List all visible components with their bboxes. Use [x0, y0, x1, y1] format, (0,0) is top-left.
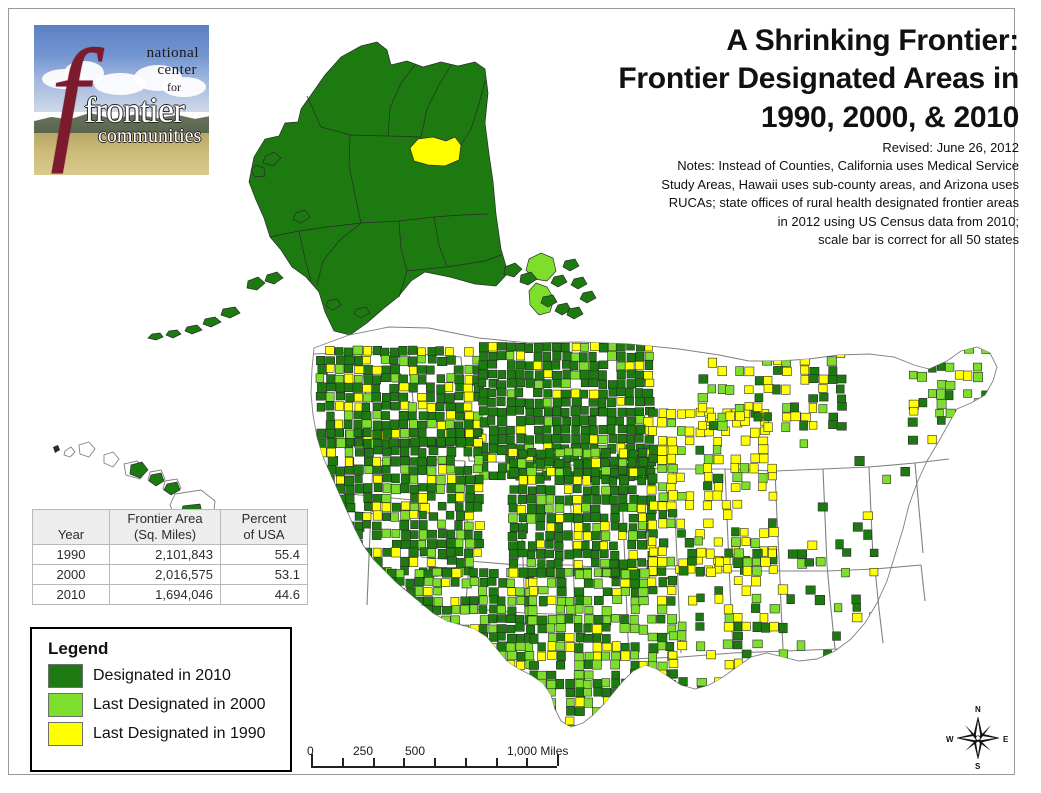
county-cell [668, 454, 676, 464]
county-cell [563, 352, 572, 362]
county-cell [640, 569, 649, 578]
county-cell [630, 615, 638, 624]
county-cell [388, 625, 397, 633]
county-cell [354, 465, 364, 475]
county-cell [592, 486, 600, 495]
county-cell [909, 354, 917, 362]
county-cell [480, 569, 489, 577]
legend-swatch-2000 [48, 693, 83, 717]
county-cell [574, 549, 582, 557]
county-cell [566, 679, 575, 688]
county-cell [593, 642, 601, 652]
county-cell [547, 717, 555, 725]
county-cell [627, 417, 635, 425]
county-cell [381, 412, 389, 420]
county-cell [525, 436, 534, 445]
county-cell [365, 448, 374, 456]
county-cell [445, 394, 455, 404]
county-cell [364, 365, 373, 374]
county-cell [519, 476, 527, 485]
county-cell [800, 421, 808, 430]
county-cell [526, 625, 534, 634]
county-cell [478, 379, 486, 387]
title-line-1: A Shrinking Frontier: [549, 22, 1019, 60]
county-cell [818, 503, 827, 511]
county-cell [870, 695, 879, 703]
county-cell [553, 426, 561, 435]
county-cell [392, 529, 400, 537]
county-cell [346, 485, 354, 494]
county-cell [328, 503, 336, 511]
county-cell [552, 343, 561, 351]
county-cell [546, 540, 554, 548]
county-cell [731, 455, 741, 464]
county-cell [418, 375, 426, 385]
county-cell [698, 422, 706, 430]
county-cell [369, 662, 378, 672]
county-cell [369, 643, 377, 652]
county-cell [635, 408, 644, 416]
county-cell [528, 476, 536, 485]
county-cell [611, 652, 620, 661]
county-cell [589, 399, 598, 407]
county-cell [590, 362, 599, 371]
compass-label-north: N [975, 705, 981, 714]
county-cell [639, 513, 647, 522]
county-cell [619, 459, 627, 467]
county-cell [707, 568, 716, 577]
county-cell [536, 522, 545, 531]
county-cell [829, 421, 838, 429]
county-cell [396, 570, 404, 579]
county-cell [761, 623, 770, 632]
county-cell [328, 558, 336, 567]
county-cell [433, 579, 441, 587]
county-cell [497, 625, 506, 634]
county-cell [668, 615, 677, 624]
county-cell [338, 521, 347, 531]
county-cell [799, 339, 808, 348]
county-cell [815, 595, 825, 605]
frontier-area-table: Year Frontier Area (Sq. Miles) Percent o… [32, 509, 308, 605]
county-cell [591, 532, 600, 540]
county-cell [658, 715, 666, 724]
county-cell [370, 634, 379, 642]
county-cell [658, 642, 666, 650]
county-cell [379, 587, 387, 596]
county-cell [354, 375, 362, 384]
county-cell [506, 352, 514, 360]
county-cell [406, 632, 414, 640]
county-cell [474, 439, 483, 447]
county-cell [536, 533, 544, 541]
county-cell [772, 349, 780, 357]
scale-bar: 0 250 500 1,000 Miles [307, 740, 567, 776]
county-cell [580, 370, 589, 379]
county-cell [759, 482, 767, 491]
county-cell [602, 623, 610, 631]
county-cell [567, 605, 576, 614]
county-cell [688, 596, 697, 605]
county-cell [515, 370, 524, 379]
county-cell [685, 427, 694, 436]
county-cell [446, 511, 454, 519]
county-cell [715, 558, 723, 566]
table-row: 1990 2,101,843 55.4 [33, 545, 308, 565]
county-cell [917, 372, 926, 381]
county-cell [387, 605, 396, 613]
county-cell [752, 558, 760, 566]
county-cell [565, 614, 573, 623]
county-cell [963, 371, 972, 380]
county-cell [456, 383, 464, 391]
county-cell [479, 596, 487, 604]
county-cell [723, 640, 732, 649]
county-cell [447, 374, 455, 382]
county-cell [416, 642, 425, 651]
county-cell [438, 456, 446, 464]
county-cell [714, 483, 722, 492]
county-cell [589, 352, 597, 361]
county-cell [668, 464, 678, 472]
county-cell [740, 529, 748, 537]
county-cell [410, 485, 419, 493]
county-cell [688, 557, 697, 565]
county-cell [509, 550, 518, 559]
county-cell [659, 699, 667, 708]
county-cell [535, 399, 544, 409]
county-cell [447, 530, 455, 539]
county-cell [570, 361, 578, 370]
county-cell [797, 641, 805, 651]
county-cell [635, 389, 643, 398]
county-cell [883, 475, 891, 484]
county-cell [713, 491, 722, 500]
county-cell [345, 476, 354, 485]
county-cell [852, 595, 861, 604]
county-cell [645, 436, 654, 444]
county-cell [368, 586, 376, 595]
county-cell [599, 343, 608, 352]
county-cell [318, 447, 327, 457]
county-cell [648, 699, 657, 707]
county-cell [737, 340, 746, 350]
county-cell [764, 423, 772, 432]
county-cell [445, 348, 453, 356]
county-cell [557, 587, 566, 596]
county-cell [553, 407, 561, 416]
county-cell [733, 641, 742, 649]
county-cell [669, 660, 678, 668]
county-cell [828, 376, 837, 384]
county-cell [396, 634, 404, 642]
county-cell [437, 437, 446, 446]
legend-item-1990[interactable]: Last Designated in 1990 [48, 722, 290, 746]
county-cell [445, 383, 453, 392]
scale-tick [403, 758, 405, 766]
county-cell [418, 494, 427, 504]
county-cell [572, 398, 582, 406]
county-cell [553, 351, 562, 360]
county-cell [364, 346, 372, 355]
county-cell [456, 428, 464, 437]
county-cell [466, 476, 475, 484]
county-cell [336, 438, 345, 447]
county-cell [677, 492, 687, 500]
note-line-1: Notes: Instead of Counties, California u… [549, 157, 1019, 176]
county-cell [451, 597, 459, 606]
county-cell [399, 393, 408, 401]
county-cell [760, 529, 769, 538]
county-cell [616, 343, 625, 351]
cell-area: 2,016,575 [110, 565, 221, 585]
county-cell [658, 465, 667, 473]
county-cell [319, 522, 327, 531]
county-cell [436, 347, 444, 355]
cell-year: 1990 [33, 545, 110, 565]
county-cell [658, 568, 666, 576]
county-cell [447, 538, 457, 547]
county-cell [534, 343, 543, 351]
county-cell [470, 569, 478, 577]
county-cell [782, 358, 791, 366]
county-cell [685, 437, 694, 445]
county-cell [668, 474, 677, 483]
scale-axis-line [311, 766, 557, 768]
county-cell [506, 643, 515, 652]
county-cell [888, 585, 897, 594]
county-cell [819, 405, 827, 413]
county-cell [592, 625, 602, 635]
county-cell [584, 569, 592, 578]
county-cell [497, 606, 505, 614]
county-cell [696, 623, 704, 631]
scale-tick [496, 758, 498, 766]
county-cell [538, 616, 547, 625]
county-cell [345, 467, 354, 475]
county-cell [635, 371, 644, 379]
county-cell [400, 357, 408, 366]
county-cell [602, 688, 611, 697]
county-cell [648, 615, 656, 623]
county-cell [418, 430, 426, 439]
county-cell [419, 484, 427, 492]
county-cell [510, 486, 519, 494]
county-cell [543, 398, 551, 407]
county-cell [397, 625, 405, 634]
county-cell [649, 557, 658, 567]
county-cell [768, 677, 777, 685]
county-cell [420, 548, 428, 556]
county-cell [667, 688, 675, 696]
county-cell [725, 686, 735, 695]
county-cell [363, 484, 372, 493]
county-cell [474, 484, 483, 492]
county-cell [464, 348, 473, 357]
county-cell [455, 521, 463, 531]
county-cell [536, 459, 545, 468]
county-cell [310, 513, 319, 521]
logo-text-communities: communities [98, 125, 201, 148]
county-cell [489, 569, 498, 577]
county-cell [388, 642, 397, 651]
county-cell [526, 417, 535, 425]
county-cell [754, 340, 763, 349]
county-cell [508, 532, 517, 540]
county-cell [525, 652, 534, 661]
county-cell [326, 357, 335, 365]
county-cell [489, 426, 498, 436]
county-cell [374, 483, 382, 491]
county-cell [419, 530, 427, 540]
county-cell [753, 549, 763, 557]
county-cell [581, 343, 589, 351]
county-cell [316, 356, 324, 364]
county-cell [734, 549, 744, 558]
county-cell [619, 560, 628, 569]
county-cell [335, 420, 343, 429]
table-row: 2000 2,016,575 53.1 [33, 565, 308, 585]
county-cell [401, 465, 409, 473]
county-cell [768, 549, 776, 557]
scale-tick [465, 758, 467, 766]
county-cell [745, 367, 754, 376]
county-cell [709, 340, 718, 349]
county-cell [362, 412, 371, 420]
county-cell [452, 662, 461, 670]
county-cell [390, 392, 399, 400]
county-cell [336, 356, 345, 364]
county-cell [753, 640, 763, 648]
county-cell [326, 421, 335, 430]
county-cell [475, 475, 483, 483]
county-cell [369, 651, 378, 659]
county-cell [326, 346, 335, 354]
county-cell [583, 549, 592, 557]
county-cell [372, 376, 380, 385]
county-cell [638, 559, 646, 567]
county-cell [612, 578, 620, 586]
county-cell [387, 578, 396, 586]
county-cell [415, 634, 423, 643]
note-line-2: Study Areas, Hawaii uses sub-county area… [549, 176, 1019, 195]
county-cell [837, 375, 846, 383]
county-cell [715, 587, 723, 596]
county-cell [488, 360, 497, 368]
county-cell [516, 624, 525, 632]
county-cell [346, 503, 355, 511]
county-cell [897, 594, 905, 602]
county-cell [355, 549, 364, 558]
county-cell [317, 403, 325, 411]
county-cell [827, 357, 837, 366]
county-cell [552, 371, 561, 379]
county-cell [733, 472, 742, 481]
county-cell [909, 371, 917, 379]
county-cell [610, 560, 619, 568]
county-cell [668, 509, 677, 517]
county-cell [552, 417, 561, 426]
county-cell [753, 567, 762, 576]
county-cell [428, 347, 436, 356]
county-cell [519, 568, 528, 578]
county-cell [829, 367, 837, 377]
county-cell [657, 605, 667, 614]
county-cell [407, 624, 416, 632]
county-cell [515, 388, 523, 397]
county-cell [382, 402, 390, 410]
county-cell [507, 660, 515, 669]
county-cell [444, 652, 453, 661]
county-cell [669, 651, 678, 659]
county-cell [574, 671, 583, 679]
county-cell [820, 393, 829, 401]
county-cell [556, 642, 565, 650]
county-cell [529, 662, 538, 670]
county-cell [564, 485, 572, 494]
legend-item-2000[interactable]: Last Designated in 2000 [48, 693, 290, 717]
county-cell [498, 472, 506, 480]
county-cell [538, 652, 546, 661]
county-cell [480, 662, 489, 671]
county-cell [608, 381, 618, 389]
county-cell [575, 570, 584, 579]
county-cell [658, 725, 667, 733]
county-cell [369, 570, 378, 578]
county-cell [530, 707, 538, 715]
county-cell [668, 576, 677, 585]
compass-rose: N E S W [945, 705, 1011, 771]
county-cell [600, 550, 608, 558]
county-cell [455, 539, 463, 547]
county-cell [648, 653, 656, 662]
county-cell [489, 444, 498, 453]
county-cell [489, 472, 497, 480]
header-year: Year [33, 510, 110, 545]
county-cell [609, 434, 617, 443]
county-cell [697, 686, 706, 694]
county-cell [428, 530, 437, 538]
county-cell [354, 420, 362, 429]
county-cell [733, 500, 742, 508]
county-cell [750, 464, 758, 473]
county-cell [470, 642, 479, 650]
county-cell [575, 708, 584, 716]
county-cell [545, 458, 554, 466]
county-cell [462, 662, 470, 671]
county-cell [409, 420, 417, 429]
county-cell [763, 339, 771, 348]
county-cell [418, 401, 427, 409]
county-cell [539, 699, 548, 707]
county-cell [437, 520, 445, 528]
county-cell [637, 540, 646, 549]
county-cell [336, 558, 345, 567]
county-cell [736, 367, 744, 376]
county-cell [611, 707, 620, 716]
county-cell [473, 429, 481, 437]
county-cell [372, 567, 380, 576]
county-cell [555, 476, 564, 485]
county-cell [345, 448, 353, 457]
county-cell [465, 412, 474, 421]
county-cell [602, 652, 610, 660]
county-cell [480, 616, 489, 625]
legend-item-2010[interactable]: Designated in 2010 [48, 664, 290, 688]
county-cell [640, 698, 648, 708]
county-cell [374, 439, 383, 447]
county-cell [602, 467, 611, 475]
